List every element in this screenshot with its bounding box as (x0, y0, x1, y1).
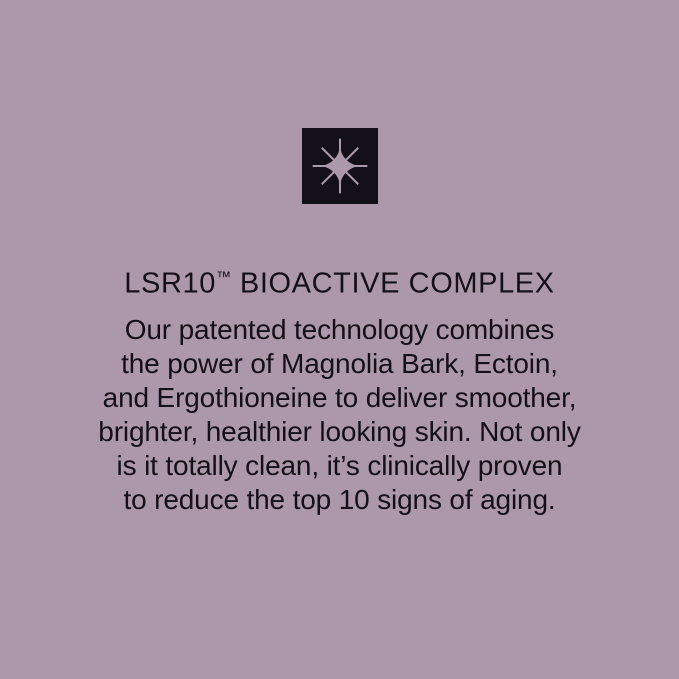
four-petal-flower-logo-icon (302, 127, 378, 205)
body-description: Our patented technology combines the pow… (0, 313, 679, 517)
body-line: the power of Magnolia Bark, Ectoin, (40, 347, 639, 381)
body-line: Our patented technology combines (40, 313, 639, 347)
body-line: and Ergothioneine to deliver smoother, (40, 381, 639, 415)
body-line: brighter, healthier looking skin. Not on… (40, 415, 639, 449)
page-title-name: LSR10 (124, 268, 216, 300)
page-title-suffix: BIOACTIVE COMPLEX (231, 268, 554, 300)
body-line: to reduce the top 10 signs of aging. (40, 483, 639, 517)
product-info-card: LSR10™ BIOACTIVE COMPLEX Our patented te… (0, 0, 679, 679)
page-title: LSR10™ BIOACTIVE COMPLEX (0, 262, 679, 300)
body-line: is it totally clean, it’s clinically pro… (40, 449, 639, 483)
trademark-symbol: ™ (216, 269, 231, 286)
